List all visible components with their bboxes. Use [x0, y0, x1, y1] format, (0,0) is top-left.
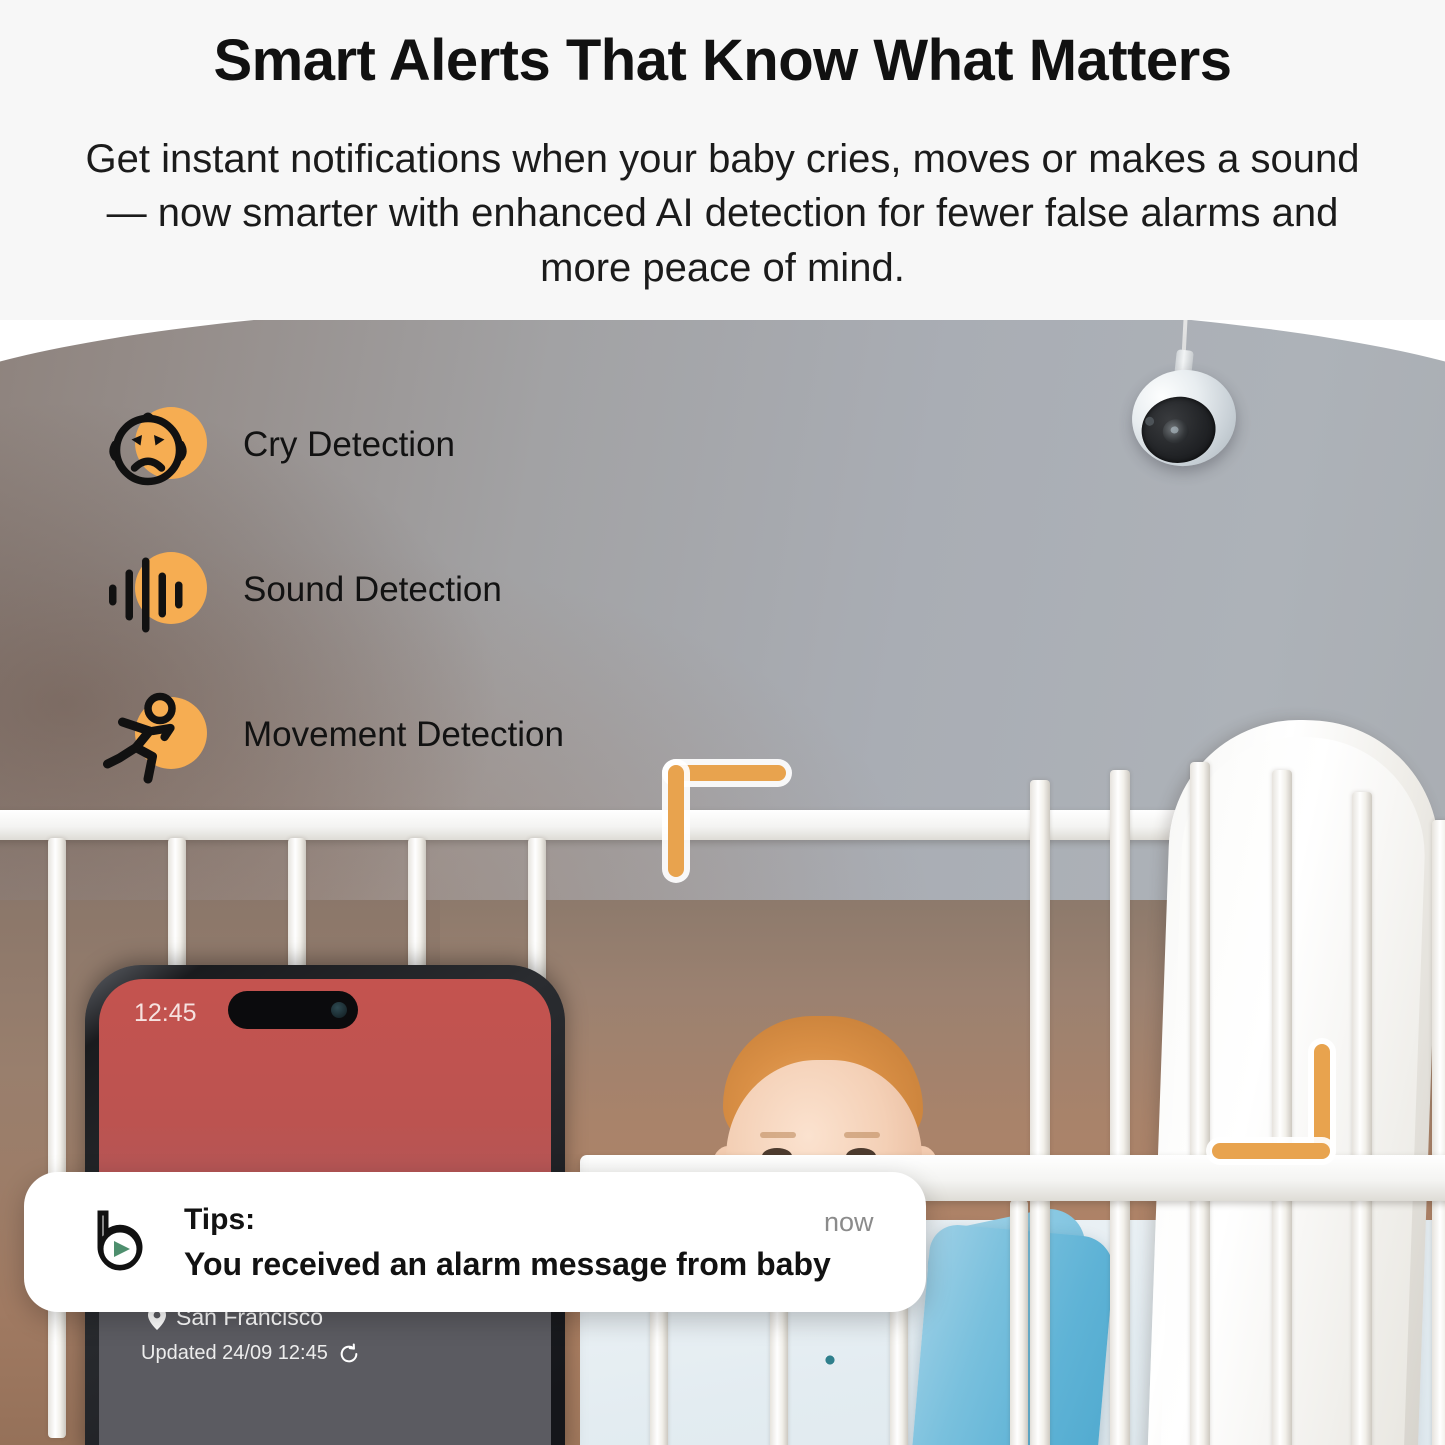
crying-baby-face-icon: [95, 395, 203, 503]
notification-card[interactable]: Tips: You received an alarm message from…: [24, 1172, 926, 1312]
bracket-arm-vertical: [1314, 1044, 1330, 1159]
feature-label: Sound Detection: [243, 570, 502, 610]
crib-bar: [1432, 820, 1445, 1445]
header-section: Smart Alerts That Know What Matters Get …: [0, 0, 1445, 320]
sound-waveform-glyph: [103, 544, 199, 640]
notification-timestamp: now: [824, 1207, 874, 1238]
feature-cry-detection[interactable]: Cry Detection: [95, 395, 775, 540]
page-subtitle: Get instant notifications when your baby…: [80, 132, 1365, 295]
corner-bracket-top-left: [668, 765, 798, 885]
crib-bar: [1010, 1200, 1028, 1445]
baby-monitor-app-logo-icon: [80, 1205, 154, 1279]
dome-security-camera: [1120, 300, 1340, 500]
camera-dome-body: [1126, 363, 1242, 473]
notification-title: Tips:: [184, 1203, 255, 1237]
running-person-glyph: [103, 689, 199, 785]
phone-status-time: 12:45: [134, 999, 197, 1028]
blue-blanket: [899, 1223, 1116, 1445]
camera-ir-led-icon: [1145, 416, 1155, 426]
notification-body: You received an alarm message from baby: [184, 1246, 831, 1283]
feature-label: Cry Detection: [243, 425, 455, 465]
crib-bar: [48, 838, 66, 1438]
running-person-icon: [95, 685, 203, 793]
page-title: Smart Alerts That Know What Matters: [0, 28, 1445, 95]
baby-brow-right: [844, 1132, 880, 1138]
feature-sound-detection[interactable]: Sound Detection: [95, 540, 775, 685]
phone-updated-label: Updated 24/09 12:45: [141, 1342, 328, 1365]
camera-lens-icon: [1161, 418, 1190, 445]
phone-updated-row: Updated 24/09 12:45: [141, 1342, 360, 1365]
camera-lens-housing: [1137, 392, 1219, 468]
crying-baby-face-glyph: [103, 399, 199, 495]
baby-brow-left: [760, 1132, 796, 1138]
dynamic-island: [228, 991, 358, 1029]
crib-bar: [1030, 780, 1050, 1445]
crib-bar: [1352, 792, 1372, 1445]
corner-bracket-bottom-right: [1200, 1044, 1330, 1169]
refresh-icon[interactable]: [338, 1343, 360, 1365]
front-camera-icon: [331, 1002, 347, 1018]
bracket-arm-horizontal: [1212, 1143, 1330, 1159]
bracket-arm-vertical: [668, 765, 684, 877]
bracket-arm-horizontal: [668, 765, 786, 781]
feature-label: Movement Detection: [243, 715, 564, 755]
sound-waveform-icon: [95, 540, 203, 648]
crib-bar: [1110, 770, 1130, 1445]
